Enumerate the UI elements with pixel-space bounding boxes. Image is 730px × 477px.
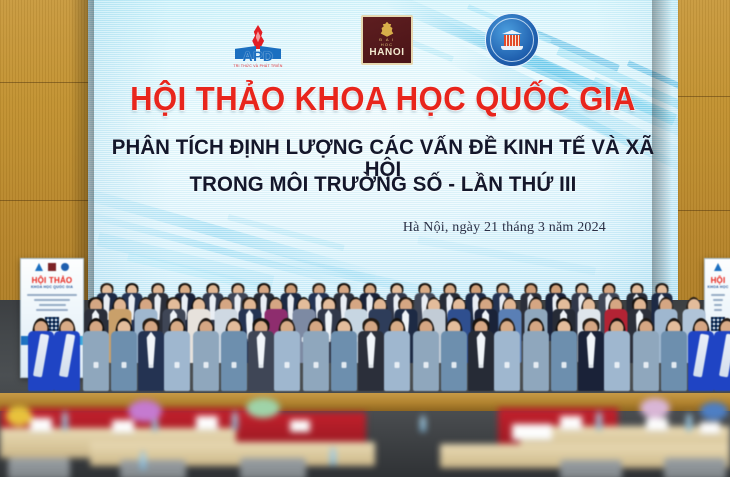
attendee <box>358 318 384 395</box>
torso <box>413 331 439 391</box>
torso <box>274 331 300 391</box>
name-badge <box>259 362 264 368</box>
name-badge <box>342 362 347 368</box>
name-badge <box>369 362 374 368</box>
name-badge <box>424 362 429 368</box>
building-icon <box>501 30 523 50</box>
apd-logo-tagline: TRI THỨC VÀ PHÁT TRIỂN <box>233 64 282 68</box>
attendee <box>164 318 190 395</box>
standee-logo-row <box>21 259 83 271</box>
torso <box>303 331 329 391</box>
name-badge <box>615 362 620 368</box>
apd-logo-word: APD <box>242 49 273 63</box>
attendee <box>714 318 730 395</box>
name-badge <box>395 362 400 368</box>
torso <box>111 331 137 391</box>
torso <box>604 331 630 391</box>
name-badge <box>175 362 180 368</box>
torso <box>523 331 549 391</box>
attendee <box>138 318 164 395</box>
torso <box>331 331 357 391</box>
name-badge <box>149 362 154 368</box>
apd-mini-icon-right <box>714 263 722 271</box>
torso <box>164 331 190 391</box>
name-badge <box>672 362 677 368</box>
hanoi-university-logo: Đ A I HOC HANOI <box>361 15 413 65</box>
apd-mini-icon <box>35 263 43 271</box>
torso <box>633 331 659 391</box>
name-badge <box>285 362 290 368</box>
conference-date: Hà Nội, ngày 21 tháng 3 năm 2024 <box>403 220 606 236</box>
attendee <box>384 318 410 395</box>
attendee <box>193 318 219 395</box>
name-badge <box>644 362 649 368</box>
name-badge <box>232 362 237 368</box>
attendee <box>441 318 467 395</box>
name-badge <box>479 362 484 368</box>
attendee <box>578 318 604 395</box>
attendee <box>83 318 109 395</box>
name-badge <box>94 362 99 368</box>
attendee <box>221 318 247 395</box>
name-badge <box>589 362 594 368</box>
crest-icon <box>380 22 395 37</box>
hanoi-mini-icon <box>48 263 56 271</box>
attendee <box>688 318 714 395</box>
attendee <box>604 318 630 395</box>
torso <box>83 331 109 391</box>
attendee <box>111 318 137 395</box>
attendee <box>523 318 549 395</box>
name-badge <box>505 362 510 368</box>
backdrop-logo-row: APD TRI THỨC VÀ PHÁT TRIỂN Đ A I HOC HAN… <box>88 12 678 68</box>
torso <box>193 331 219 391</box>
torso <box>551 331 577 391</box>
torso <box>441 331 467 391</box>
name-badge <box>204 362 209 368</box>
foreground-tables <box>0 398 730 477</box>
attendee <box>661 318 687 395</box>
attendee <box>303 318 329 395</box>
attendee <box>551 318 577 395</box>
torso <box>384 331 410 391</box>
conference-subtitle-2: TRONG MÔI TRƯỜNG SỐ - LẦN THỨ III <box>103 174 664 196</box>
attendee <box>28 318 54 395</box>
attendee <box>54 318 80 395</box>
name-badge <box>534 362 539 368</box>
hanoi-logo-line3: HANOI <box>369 48 404 59</box>
name-badge <box>122 362 127 368</box>
name-badge <box>452 362 457 368</box>
attendee <box>468 318 494 395</box>
led-backdrop-screen: APD TRI THỨC VÀ PHÁT TRIỂN Đ A I HOC HAN… <box>88 0 678 300</box>
attendee <box>331 318 357 395</box>
torso <box>494 331 520 391</box>
attendee <box>633 318 659 395</box>
photo-scene: APD TRI THỨC VÀ PHÁT TRIỂN Đ A I HOC HAN… <box>0 0 730 477</box>
conference-title: HỘI THẢO KHOA HỌC QUỐC GIA <box>106 82 661 115</box>
name-badge <box>314 362 319 368</box>
university-seal-logo <box>485 13 539 67</box>
attendee <box>274 318 300 395</box>
torso <box>221 331 247 391</box>
attendee <box>248 318 274 395</box>
seal-mini-icon <box>61 263 69 271</box>
attendee <box>494 318 520 395</box>
group-photo-attendees <box>0 272 730 407</box>
standee-logo-row-right <box>705 259 730 271</box>
attendee <box>413 318 439 395</box>
name-badge <box>562 362 567 368</box>
apd-logo: APD TRI THỨC VÀ PHÁT TRIỂN <box>227 12 289 68</box>
torso <box>661 331 687 391</box>
